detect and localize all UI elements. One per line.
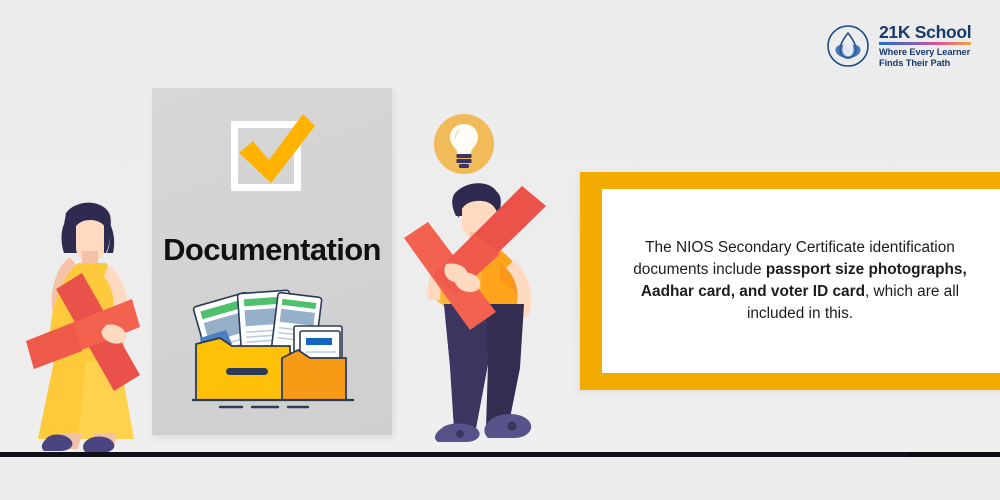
logo-tagline-line2: Finds Their Path: [879, 58, 971, 69]
brand-logo[interactable]: 21K School Where Every Learner Finds The…: [826, 18, 996, 74]
man-holding-red-x: [404, 178, 564, 455]
checkbox-check-icon: [231, 113, 315, 198]
logo-title: 21K School: [879, 23, 971, 41]
info-callout-panel: The NIOS Secondary Certificate identific…: [580, 172, 1000, 390]
lightbulb-icon: [433, 113, 495, 175]
card-title: Documentation: [152, 232, 392, 268]
lotus-circle-logo-icon: [826, 24, 870, 68]
woman-holding-red-x: [20, 193, 152, 455]
callout-inner-white: The NIOS Secondary Certificate identific…: [602, 189, 1000, 373]
folders-with-documents-illustration: [186, 282, 364, 410]
logo-text-block: 21K School Where Every Learner Finds The…: [879, 23, 971, 70]
slide-canvas: 21K School Where Every Learner Finds The…: [0, 0, 1000, 500]
bottom-strip: [0, 457, 1000, 500]
callout-text: The NIOS Secondary Certificate identific…: [624, 237, 998, 325]
logo-tagline-line1: Where Every Learner: [879, 47, 971, 58]
logo-gradient-underline: [879, 42, 971, 45]
